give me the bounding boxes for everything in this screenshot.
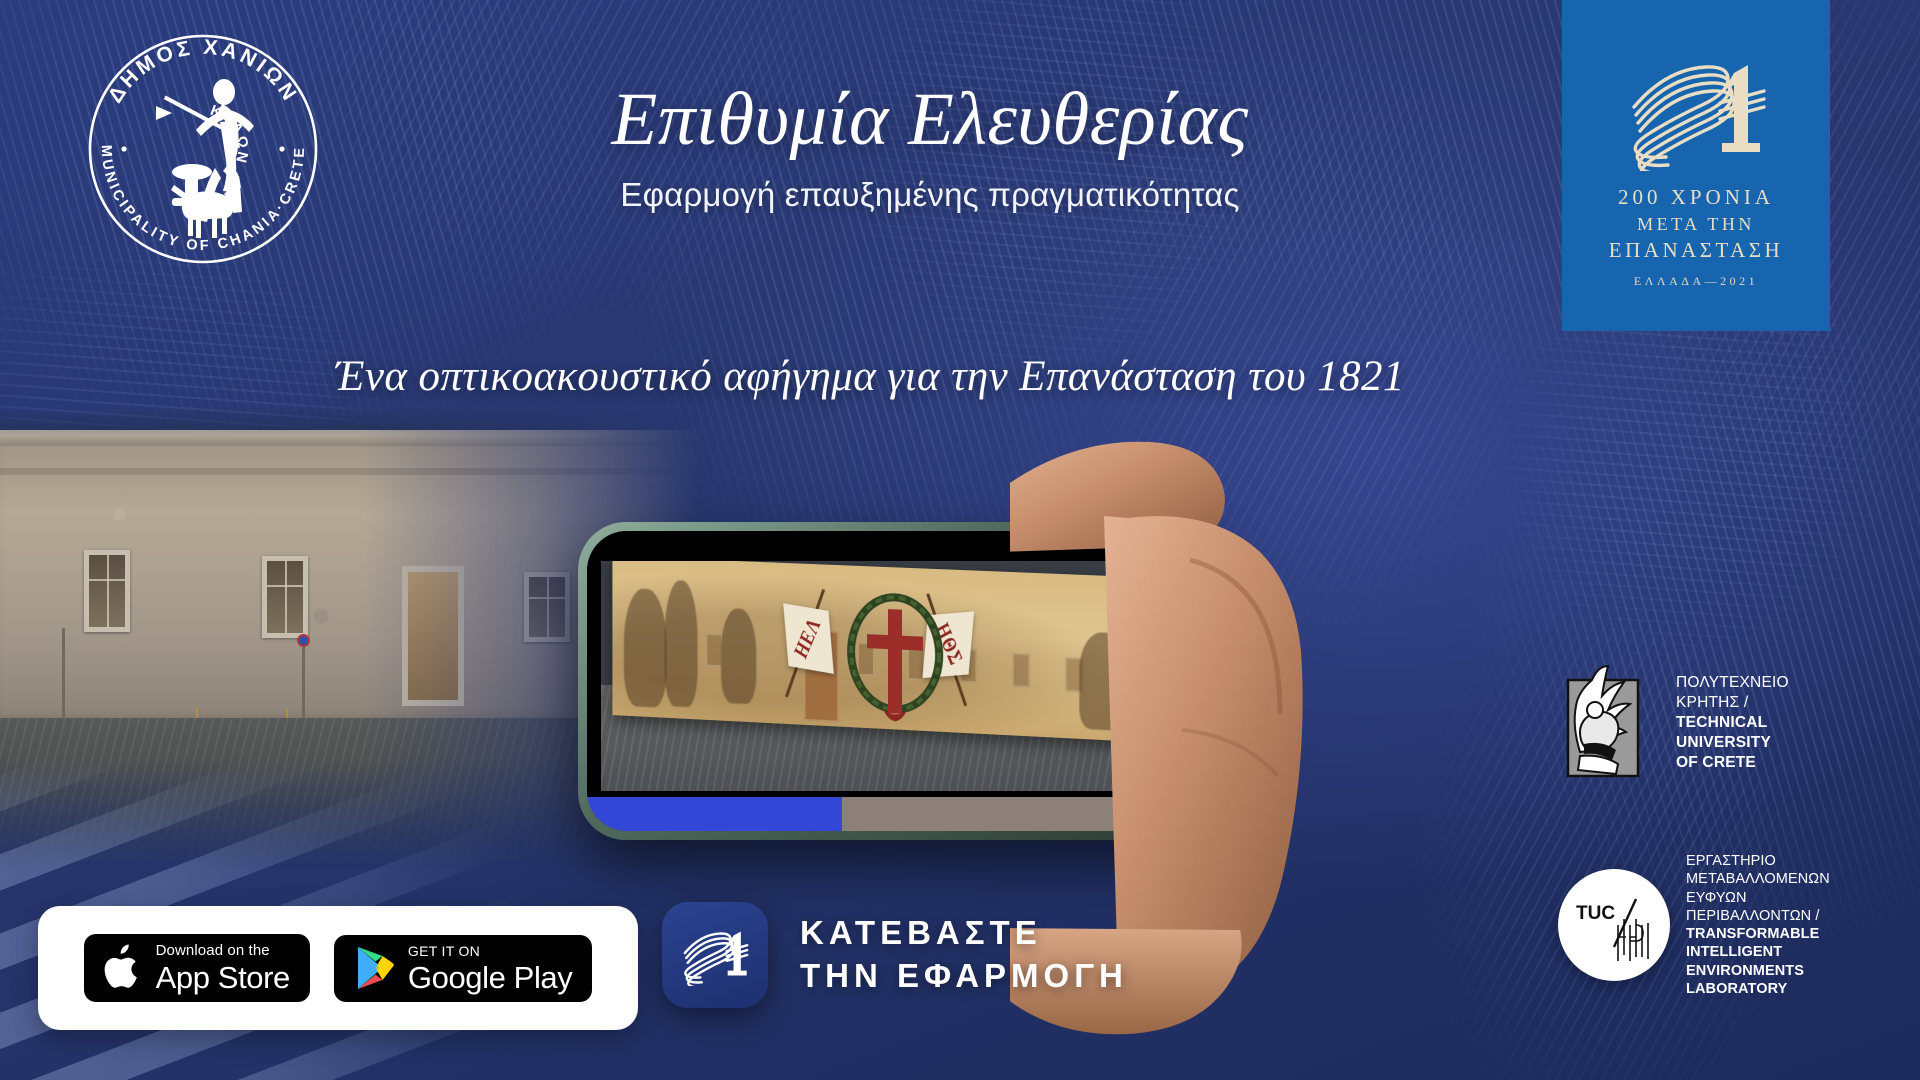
mural-window	[1012, 653, 1030, 688]
tie-line-8: LABORATORY	[1686, 980, 1830, 998]
greece-2021-anniversary-logo: 200 ΧΡΟΝΙΑ ΜΕΤΑ ΤΗΝ ΕΠΑΝΑΣΤΑΣΗ ΕΛΛΑΔΑ—20…	[1562, 0, 1830, 331]
mural-laurel-wreath-cross	[839, 589, 951, 726]
tie-line-4: ΠΕΡΙΒΑΛΛΟΝΤΩΝ /	[1686, 907, 1830, 925]
cta-text: ΚΑΤΕΒΑΣΤΕ ΤΗΝ ΕΦΑΡΜΟΓΗ	[800, 912, 1128, 998]
tuc-line-3: TECHNICAL	[1676, 713, 1789, 733]
seal-top-text: ΔΗΜΟΣ ΧΑΝΙΩΝ	[104, 36, 303, 107]
mural-figure	[721, 608, 756, 705]
photo-wall-band	[0, 468, 700, 475]
google-play-icon	[354, 945, 396, 991]
tie-line-5: TRANSFORMABLE	[1686, 925, 1830, 943]
photo-window	[262, 556, 308, 638]
photo-window	[524, 572, 570, 642]
tuc-line-1: ΠΟΛΥΤΕΧΝΕΙΟ	[1676, 673, 1789, 693]
ar-camera-view: ΗΕΛ ΗΘΣ	[601, 561, 1195, 791]
photo-cornice	[0, 430, 700, 446]
municipality-of-chania-seal: ΔΗΜΟΣ ΧΑΝΙΩΝ MUNICIPALITY OF CHANIA·CRET…	[72, 18, 334, 280]
tie-line-3: ΕΥΦΥΩΝ	[1686, 889, 1830, 907]
app-icon-21-mark	[676, 924, 754, 986]
tuc-line-5: OF CRETE	[1676, 753, 1789, 773]
tie-line-2: ΜΕΤΑΒΑΛΛΟΜΕΝΩΝ	[1686, 870, 1830, 888]
cta-line-2: ΤΗΝ ΕΦΑΡΜΟΓΗ	[800, 955, 1128, 998]
tuc-line-2: ΚΡΗΤΗΣ /	[1676, 693, 1789, 713]
app-store-big-label: App Store	[156, 962, 290, 993]
page-tagline: Ένα οπτικοακουστικό αφήγημα για την Επαν…	[180, 352, 1560, 401]
page-subtitle: Εφαρμογή επαυξημένης πραγματικότητας	[380, 176, 1480, 214]
anniversary-line-1: 200 ΧΡΟΝΙΑ	[1618, 185, 1774, 210]
anniversary-line-4: ΕΛΛΑΔΑ—2021	[1634, 274, 1758, 289]
video-progress-fill	[587, 797, 842, 831]
photo-sign-pole	[302, 636, 305, 728]
promotional-poster: ΔΗΜΟΣ ΧΑΝΙΩΝ MUNICIPALITY OF CHANIA·CRET…	[0, 0, 1920, 1080]
google-play-big-label: Google Play	[408, 962, 572, 993]
tuc-line-4: UNIVERSITY	[1676, 733, 1789, 753]
google-play-button[interactable]: GET IT ON Google Play	[334, 935, 592, 1002]
tuc-winged-figure-icon	[1562, 664, 1658, 782]
tie-lab-text-block: ΕΡΓΑΣΤΗΡΙΟ ΜΕΤΑΒΑΛΛΟΜΕΝΩΝ ΕΥΦΥΩΝ ΠΕΡΙΒΑΛ…	[1686, 852, 1830, 998]
google-play-small-label: GET IT ON	[408, 944, 572, 958]
technical-university-of-crete-logo: ΠΟΛΥΤΕΧΝΕΙΟ ΚΡΗΤΗΣ / TECHNICAL UNIVERSIT…	[1562, 664, 1789, 782]
cta-line-1: ΚΑΤΕΒΑΣΤΕ	[800, 912, 1128, 955]
ar-mural-overlay: ΗΕΛ ΗΘΣ	[612, 561, 1170, 743]
app-icon[interactable]	[662, 902, 768, 1008]
anniversary-21-mark	[1616, 51, 1776, 171]
photo-door	[402, 566, 464, 706]
mural-figure	[665, 580, 698, 708]
tie-line-7: ENVIRONMENTS	[1686, 962, 1830, 980]
close-icon[interactable]: ✕	[1153, 555, 1187, 589]
app-store-button[interactable]: Download on the App Store	[84, 934, 310, 1002]
mural-figure	[1079, 631, 1137, 731]
tie-line-1: ΕΡΓΑΣΤΗΡΙΟ	[1686, 852, 1830, 870]
mural-flag-left: ΗΕΛ	[783, 603, 834, 674]
download-app-cta[interactable]: ΚΑΤΕΒΑΣΤΕ ΤΗΝ ΕΦΑΡΜΟΓΗ	[662, 902, 1128, 1008]
phone-screen: ΗΕΛ ΗΘΣ ✕	[587, 531, 1209, 831]
photo-traffic-sign	[297, 634, 310, 647]
anniversary-line-3: ΕΠΑΝΑΣΤΑΣΗ	[1609, 238, 1783, 263]
phone-body: ΗΕΛ ΗΘΣ ✕	[587, 531, 1209, 831]
video-progress-bar[interactable]	[587, 797, 1209, 831]
tuc-tie-lab-icon: TUC	[1568, 879, 1660, 971]
phone-side-button	[1201, 609, 1209, 657]
tie-line-6: INTELLIGENT	[1686, 943, 1830, 961]
svg-text:ΔΗΜΟΣ ΧΑΝΙΩΝ: ΔΗΜΟΣ ΧΑΝΙΩΝ	[104, 36, 303, 107]
app-store-small-label: Download on the	[156, 943, 290, 958]
title-block: Επιθυμία Ελευθερίας Εφαρμογή επαυξημένης…	[380, 80, 1480, 214]
tie-mark-left: TUC	[1576, 903, 1615, 924]
smartphone-mockup: ΗΕΛ ΗΘΣ ✕	[578, 522, 1218, 840]
apple-icon	[104, 944, 144, 992]
tie-lab-logo: TUC ΕΡΓΑΣΤΗΡΙΟ ΜΕΤΑΒΑΛΛΟΜΕΝΩΝ ΕΥΦΥΩΝ ΠΕΡ…	[1558, 852, 1830, 998]
app-store-badges-panel: Download on the App Store GET IT ON Goog…	[38, 906, 638, 1030]
tie-lab-mark: TUC	[1558, 869, 1670, 981]
page-title: Επιθυμία Ελευθερίας	[380, 80, 1480, 160]
mural-figure	[624, 588, 667, 708]
anniversary-line-2: ΜΕΤΑ ΤΗΝ	[1637, 214, 1755, 235]
tuc-text-block: ΠΟΛΥΤΕΧΝΕΙΟ ΚΡΗΤΗΣ / TECHNICAL UNIVERSIT…	[1676, 673, 1789, 772]
photo-window	[84, 550, 130, 632]
